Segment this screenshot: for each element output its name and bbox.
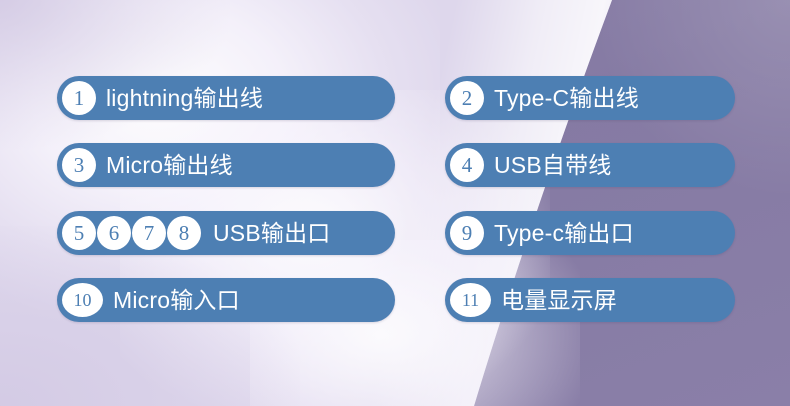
callout-3[interactable]: 3Micro输出线 [57,143,395,187]
callout-2[interactable]: 2Type-C输出线 [445,76,735,120]
callout-number-group: 9 [450,216,485,250]
callout-number-badge: 9 [450,216,484,250]
callout-label: USB自带线 [494,154,612,177]
callout-1[interactable]: 1lightning输出线 [57,76,395,120]
callout-number-group: 1 [62,81,97,115]
callout-number-badge: 6 [97,216,131,250]
callout-10[interactable]: 10Micro输入口 [57,278,395,322]
callout-5[interactable]: 5678USB输出口 [57,211,395,255]
background-vignette-top-left [0,0,230,150]
callout-label: lightning输出线 [106,87,263,110]
callout-number-badge: 10 [62,283,103,317]
callout-number-badge: 8 [167,216,201,250]
callout-9[interactable]: 9Type-c输出口 [445,211,735,255]
callout-number-badge: 4 [450,148,484,182]
callout-number-group: 4 [450,148,485,182]
callout-label: Type-C输出线 [494,87,639,110]
callout-number-group: 5678 [62,216,202,250]
callout-label: 电量显示屏 [501,289,617,312]
callout-number-group: 2 [450,81,485,115]
callout-label: Micro输入口 [113,289,240,312]
callout-4[interactable]: 4USB自带线 [445,143,735,187]
callout-label: USB输出口 [213,222,331,245]
callout-number-group: 3 [62,148,97,182]
callout-number-badge: 11 [450,283,491,317]
callout-number-badge: 1 [62,81,96,115]
callout-number-badge: 7 [132,216,166,250]
callout-number-badge: 3 [62,148,96,182]
product-callout-panel: 1lightning输出线2Type-C输出线3Micro输出线4USB自带线5… [0,0,790,406]
callout-number-badge: 5 [62,216,96,250]
callout-label: Micro输出线 [106,154,233,177]
callout-label: Type-c输出口 [494,222,634,245]
callout-number-group: 10 [62,283,104,317]
callout-number-group: 11 [450,283,492,317]
callout-11[interactable]: 11电量显示屏 [445,278,735,322]
callout-number-badge: 2 [450,81,484,115]
